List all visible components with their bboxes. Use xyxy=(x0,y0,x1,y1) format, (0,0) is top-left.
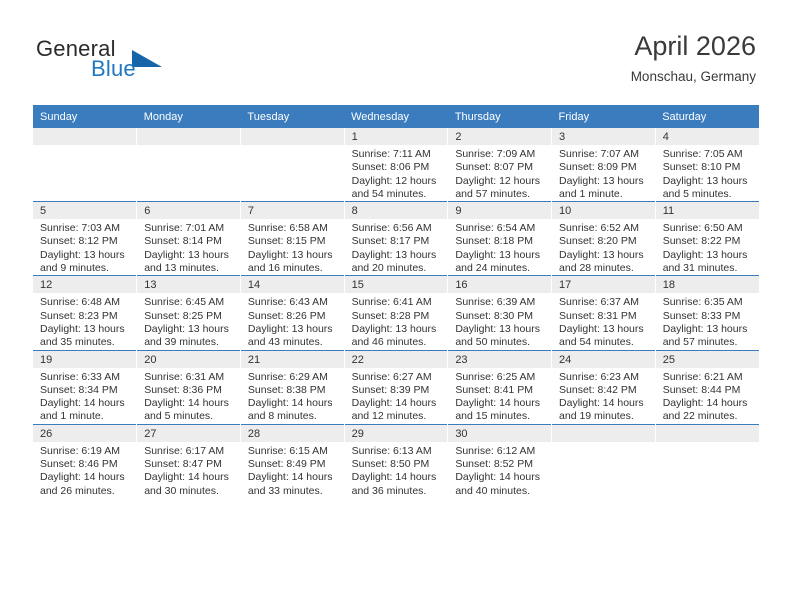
daylight-duration-line1: Daylight: 14 hours xyxy=(40,397,131,410)
day-details: Sunrise: 7:11 AMSunset: 8:06 PMDaylight:… xyxy=(345,145,448,201)
sunset-time: Sunset: 8:25 PM xyxy=(144,310,235,323)
sunrise-time: Sunrise: 6:15 AM xyxy=(248,445,339,458)
sunrise-time: Sunrise: 7:09 AM xyxy=(455,148,546,161)
day-details: Sunrise: 7:09 AMSunset: 8:07 PMDaylight:… xyxy=(448,145,551,201)
weekday-header-tuesday: Tuesday xyxy=(240,105,344,128)
page-header: General Blue April 2026 Monschau, German… xyxy=(0,0,792,100)
calendar-day-cell[interactable]: 9Sunrise: 6:54 AMSunset: 8:18 PMDaylight… xyxy=(448,202,552,276)
calendar-day-cell[interactable]: 26Sunrise: 6:19 AMSunset: 8:46 PMDayligh… xyxy=(33,424,137,498)
day-details: Sunrise: 6:43 AMSunset: 8:26 PMDaylight:… xyxy=(241,293,344,349)
daylight-duration-line2: and 9 minutes. xyxy=(40,262,131,275)
calendar-day-cell[interactable]: 7Sunrise: 6:58 AMSunset: 8:15 PMDaylight… xyxy=(240,202,344,276)
daylight-duration-line2: and 24 minutes. xyxy=(455,262,546,275)
day-number: 13 xyxy=(137,276,240,293)
daylight-duration-line2: and 54 minutes. xyxy=(559,336,650,349)
day-details: Sunrise: 6:58 AMSunset: 8:15 PMDaylight:… xyxy=(241,219,344,275)
day-details: Sunrise: 6:45 AMSunset: 8:25 PMDaylight:… xyxy=(137,293,240,349)
calendar-week-row: 1Sunrise: 7:11 AMSunset: 8:06 PMDaylight… xyxy=(33,128,759,202)
calendar-day-cell[interactable]: 21Sunrise: 6:29 AMSunset: 8:38 PMDayligh… xyxy=(240,350,344,424)
sunset-time: Sunset: 8:09 PM xyxy=(559,161,650,174)
sunrise-time: Sunrise: 6:56 AM xyxy=(352,222,443,235)
sunset-time: Sunset: 8:26 PM xyxy=(248,310,339,323)
calendar-day-cell[interactable]: 23Sunrise: 6:25 AMSunset: 8:41 PMDayligh… xyxy=(448,350,552,424)
sunset-time: Sunset: 8:44 PM xyxy=(663,384,754,397)
day-details: Sunrise: 6:19 AMSunset: 8:46 PMDaylight:… xyxy=(33,442,136,498)
daylight-duration-line1: Daylight: 14 hours xyxy=(352,471,443,484)
sunrise-time: Sunrise: 7:05 AM xyxy=(663,148,754,161)
day-details: Sunrise: 6:15 AMSunset: 8:49 PMDaylight:… xyxy=(241,442,344,498)
daylight-duration-line2: and 8 minutes. xyxy=(248,410,339,423)
sunrise-time: Sunrise: 6:33 AM xyxy=(40,371,131,384)
daylight-duration-line1: Daylight: 13 hours xyxy=(559,249,650,262)
day-number: 21 xyxy=(241,351,344,368)
daylight-duration-line2: and 33 minutes. xyxy=(248,485,339,498)
daylight-duration-line1: Daylight: 14 hours xyxy=(455,471,546,484)
day-number: 14 xyxy=(241,276,344,293)
sunset-time: Sunset: 8:38 PM xyxy=(248,384,339,397)
calendar-day-cell-empty xyxy=(552,424,656,498)
title-block: April 2026 Monschau, Germany xyxy=(631,30,756,86)
daylight-duration-line1: Daylight: 14 hours xyxy=(248,471,339,484)
sunset-time: Sunset: 8:42 PM xyxy=(559,384,650,397)
daylight-duration-line2: and 36 minutes. xyxy=(352,485,443,498)
sunset-time: Sunset: 8:52 PM xyxy=(455,458,546,471)
calendar-day-cell[interactable]: 3Sunrise: 7:07 AMSunset: 8:09 PMDaylight… xyxy=(552,128,656,202)
calendar-day-cell-empty xyxy=(33,128,137,202)
day-number xyxy=(137,128,240,145)
sunrise-time: Sunrise: 6:39 AM xyxy=(455,296,546,309)
daylight-duration-line2: and 54 minutes. xyxy=(352,188,443,201)
day-number: 20 xyxy=(137,351,240,368)
calendar-day-cell[interactable]: 29Sunrise: 6:13 AMSunset: 8:50 PMDayligh… xyxy=(344,424,448,498)
daylight-duration-line2: and 5 minutes. xyxy=(144,410,235,423)
sunrise-time: Sunrise: 6:37 AM xyxy=(559,296,650,309)
day-details: Sunrise: 6:52 AMSunset: 8:20 PMDaylight:… xyxy=(552,219,655,275)
day-number xyxy=(33,128,136,145)
daylight-duration-line1: Daylight: 13 hours xyxy=(559,175,650,188)
day-details: Sunrise: 6:23 AMSunset: 8:42 PMDaylight:… xyxy=(552,368,655,424)
sunrise-time: Sunrise: 6:19 AM xyxy=(40,445,131,458)
day-details: Sunrise: 7:07 AMSunset: 8:09 PMDaylight:… xyxy=(552,145,655,201)
day-number: 6 xyxy=(137,202,240,219)
logo-text-blue: Blue xyxy=(91,56,136,82)
weekday-header-monday: Monday xyxy=(137,105,241,128)
day-number: 9 xyxy=(448,202,551,219)
day-number xyxy=(552,425,655,442)
day-details: Sunrise: 6:39 AMSunset: 8:30 PMDaylight:… xyxy=(448,293,551,349)
daylight-duration-line2: and 46 minutes. xyxy=(352,336,443,349)
sunrise-time: Sunrise: 6:12 AM xyxy=(455,445,546,458)
daylight-duration-line2: and 30 minutes. xyxy=(144,485,235,498)
calendar-day-cell-empty xyxy=(137,128,241,202)
day-details: Sunrise: 6:48 AMSunset: 8:23 PMDaylight:… xyxy=(33,293,136,349)
daylight-duration-line1: Daylight: 12 hours xyxy=(455,175,546,188)
calendar-table: Sunday Monday Tuesday Wednesday Thursday… xyxy=(33,105,759,498)
sunset-time: Sunset: 8:46 PM xyxy=(40,458,131,471)
day-number: 19 xyxy=(33,351,136,368)
daylight-duration-line2: and 35 minutes. xyxy=(40,336,131,349)
day-number: 2 xyxy=(448,128,551,145)
daylight-duration-line1: Daylight: 14 hours xyxy=(352,397,443,410)
daylight-duration-line1: Daylight: 14 hours xyxy=(559,397,650,410)
day-details: Sunrise: 6:21 AMSunset: 8:44 PMDaylight:… xyxy=(656,368,759,424)
sunset-time: Sunset: 8:50 PM xyxy=(352,458,443,471)
sunrise-time: Sunrise: 6:29 AM xyxy=(248,371,339,384)
day-details: Sunrise: 6:33 AMSunset: 8:34 PMDaylight:… xyxy=(33,368,136,424)
calendar-day-cell[interactable]: 1Sunrise: 7:11 AMSunset: 8:06 PMDaylight… xyxy=(344,128,448,202)
sunrise-time: Sunrise: 6:58 AM xyxy=(248,222,339,235)
daylight-duration-line1: Daylight: 13 hours xyxy=(559,323,650,336)
sunset-time: Sunset: 8:49 PM xyxy=(248,458,339,471)
daylight-duration-line1: Daylight: 13 hours xyxy=(352,249,443,262)
day-details: Sunrise: 6:13 AMSunset: 8:50 PMDaylight:… xyxy=(345,442,448,498)
daylight-duration-line2: and 39 minutes. xyxy=(144,336,235,349)
day-details: Sunrise: 7:05 AMSunset: 8:10 PMDaylight:… xyxy=(656,145,759,201)
calendar-day-cell[interactable]: 6Sunrise: 7:01 AMSunset: 8:14 PMDaylight… xyxy=(137,202,241,276)
calendar-day-cell-empty xyxy=(240,128,344,202)
sunset-time: Sunset: 8:34 PM xyxy=(40,384,131,397)
daylight-duration-line2: and 40 minutes. xyxy=(455,485,546,498)
day-number: 4 xyxy=(656,128,759,145)
sunset-time: Sunset: 8:30 PM xyxy=(455,310,546,323)
day-number: 22 xyxy=(345,351,448,368)
weekday-header-saturday: Saturday xyxy=(655,105,759,128)
day-number: 3 xyxy=(552,128,655,145)
sunset-time: Sunset: 8:15 PM xyxy=(248,235,339,248)
sunrise-time: Sunrise: 6:31 AM xyxy=(144,371,235,384)
daylight-duration-line1: Daylight: 14 hours xyxy=(144,471,235,484)
calendar-week-row: 19Sunrise: 6:33 AMSunset: 8:34 PMDayligh… xyxy=(33,350,759,424)
daylight-duration-line1: Daylight: 14 hours xyxy=(663,397,754,410)
daylight-duration-line2: and 57 minutes. xyxy=(455,188,546,201)
daylight-duration-line2: and 19 minutes. xyxy=(559,410,650,423)
day-number: 27 xyxy=(137,425,240,442)
weekday-header-friday: Friday xyxy=(552,105,656,128)
day-details: Sunrise: 6:17 AMSunset: 8:47 PMDaylight:… xyxy=(137,442,240,498)
daylight-duration-line2: and 28 minutes. xyxy=(559,262,650,275)
sunrise-time: Sunrise: 6:21 AM xyxy=(663,371,754,384)
daylight-duration-line1: Daylight: 14 hours xyxy=(40,471,131,484)
daylight-duration-line2: and 12 minutes. xyxy=(352,410,443,423)
daylight-duration-line1: Daylight: 13 hours xyxy=(352,323,443,336)
day-details: Sunrise: 6:25 AMSunset: 8:41 PMDaylight:… xyxy=(448,368,551,424)
sunset-time: Sunset: 8:23 PM xyxy=(40,310,131,323)
sunset-time: Sunset: 8:39 PM xyxy=(352,384,443,397)
daylight-duration-line1: Daylight: 13 hours xyxy=(144,323,235,336)
sunrise-time: Sunrise: 6:17 AM xyxy=(144,445,235,458)
sunrise-time: Sunrise: 7:01 AM xyxy=(144,222,235,235)
day-number: 26 xyxy=(33,425,136,442)
daylight-duration-line1: Daylight: 14 hours xyxy=(455,397,546,410)
page-subtitle: Monschau, Germany xyxy=(631,68,756,86)
daylight-duration-line1: Daylight: 13 hours xyxy=(40,323,131,336)
calendar-week-row: 5Sunrise: 7:03 AMSunset: 8:12 PMDaylight… xyxy=(33,202,759,276)
day-number: 12 xyxy=(33,276,136,293)
day-number: 8 xyxy=(345,202,448,219)
calendar-day-cell[interactable]: 20Sunrise: 6:31 AMSunset: 8:36 PMDayligh… xyxy=(137,350,241,424)
calendar-day-cell[interactable]: 24Sunrise: 6:23 AMSunset: 8:42 PMDayligh… xyxy=(552,350,656,424)
daylight-duration-line2: and 13 minutes. xyxy=(144,262,235,275)
sunrise-time: Sunrise: 6:25 AM xyxy=(455,371,546,384)
day-number xyxy=(656,425,759,442)
day-details: Sunrise: 6:54 AMSunset: 8:18 PMDaylight:… xyxy=(448,219,551,275)
day-details: Sunrise: 6:31 AMSunset: 8:36 PMDaylight:… xyxy=(137,368,240,424)
page-title: April 2026 xyxy=(631,30,756,62)
calendar-page: General Blue April 2026 Monschau, German… xyxy=(0,0,792,612)
calendar-day-cell[interactable]: 2Sunrise: 7:09 AMSunset: 8:07 PMDaylight… xyxy=(448,128,552,202)
sunrise-time: Sunrise: 6:50 AM xyxy=(663,222,754,235)
sunrise-time: Sunrise: 6:13 AM xyxy=(352,445,443,458)
calendar-day-cell[interactable]: 28Sunrise: 6:15 AMSunset: 8:49 PMDayligh… xyxy=(240,424,344,498)
calendar-day-cell[interactable]: 19Sunrise: 6:33 AMSunset: 8:34 PMDayligh… xyxy=(33,350,137,424)
calendar-day-cell[interactable]: 17Sunrise: 6:37 AMSunset: 8:31 PMDayligh… xyxy=(552,276,656,350)
sunrise-time: Sunrise: 6:27 AM xyxy=(352,371,443,384)
daylight-duration-line2: and 16 minutes. xyxy=(248,262,339,275)
calendar-day-cell[interactable]: 15Sunrise: 6:41 AMSunset: 8:28 PMDayligh… xyxy=(344,276,448,350)
daylight-duration-line2: and 26 minutes. xyxy=(40,485,131,498)
calendar-day-cell[interactable]: 22Sunrise: 6:27 AMSunset: 8:39 PMDayligh… xyxy=(344,350,448,424)
sunrise-time: Sunrise: 6:41 AM xyxy=(352,296,443,309)
day-details: Sunrise: 7:03 AMSunset: 8:12 PMDaylight:… xyxy=(33,219,136,275)
sunrise-time: Sunrise: 6:35 AM xyxy=(663,296,754,309)
sunrise-time: Sunrise: 6:52 AM xyxy=(559,222,650,235)
sunset-time: Sunset: 8:33 PM xyxy=(663,310,754,323)
day-number: 11 xyxy=(656,202,759,219)
sunset-time: Sunset: 8:10 PM xyxy=(663,161,754,174)
calendar-day-cell[interactable]: 11Sunrise: 6:50 AMSunset: 8:22 PMDayligh… xyxy=(655,202,759,276)
day-number: 16 xyxy=(448,276,551,293)
sunset-time: Sunset: 8:17 PM xyxy=(352,235,443,248)
calendar-day-cell[interactable]: 12Sunrise: 6:48 AMSunset: 8:23 PMDayligh… xyxy=(33,276,137,350)
daylight-duration-line1: Daylight: 13 hours xyxy=(663,175,754,188)
day-number: 15 xyxy=(345,276,448,293)
daylight-duration-line1: Daylight: 13 hours xyxy=(40,249,131,262)
sunrise-time: Sunrise: 6:45 AM xyxy=(144,296,235,309)
sunset-time: Sunset: 8:07 PM xyxy=(455,161,546,174)
sunrise-time: Sunrise: 6:23 AM xyxy=(559,371,650,384)
daylight-duration-line1: Daylight: 13 hours xyxy=(144,249,235,262)
day-number: 24 xyxy=(552,351,655,368)
daylight-duration-line1: Daylight: 13 hours xyxy=(663,249,754,262)
sunset-time: Sunset: 8:18 PM xyxy=(455,235,546,248)
daylight-duration-line2: and 1 minute. xyxy=(40,410,131,423)
daylight-duration-line1: Daylight: 13 hours xyxy=(248,249,339,262)
day-number: 5 xyxy=(33,202,136,219)
day-number: 17 xyxy=(552,276,655,293)
day-details: Sunrise: 6:50 AMSunset: 8:22 PMDaylight:… xyxy=(656,219,759,275)
logo-triangle-icon xyxy=(132,50,162,67)
day-number: 23 xyxy=(448,351,551,368)
day-details: Sunrise: 6:27 AMSunset: 8:39 PMDaylight:… xyxy=(345,368,448,424)
day-number: 7 xyxy=(241,202,344,219)
day-number: 18 xyxy=(656,276,759,293)
sunset-time: Sunset: 8:20 PM xyxy=(559,235,650,248)
daylight-duration-line2: and 22 minutes. xyxy=(663,410,754,423)
day-details: Sunrise: 6:12 AMSunset: 8:52 PMDaylight:… xyxy=(448,442,551,498)
day-number: 25 xyxy=(656,351,759,368)
daylight-duration-line1: Daylight: 13 hours xyxy=(455,323,546,336)
calendar-body: 1Sunrise: 7:11 AMSunset: 8:06 PMDaylight… xyxy=(33,128,759,498)
calendar-day-cell[interactable]: 13Sunrise: 6:45 AMSunset: 8:25 PMDayligh… xyxy=(137,276,241,350)
sunrise-time: Sunrise: 6:54 AM xyxy=(455,222,546,235)
day-details: Sunrise: 6:56 AMSunset: 8:17 PMDaylight:… xyxy=(345,219,448,275)
weekday-header-wednesday: Wednesday xyxy=(344,105,448,128)
calendar-day-cell[interactable]: 14Sunrise: 6:43 AMSunset: 8:26 PMDayligh… xyxy=(240,276,344,350)
day-details: Sunrise: 6:29 AMSunset: 8:38 PMDaylight:… xyxy=(241,368,344,424)
daylight-duration-line2: and 57 minutes. xyxy=(663,336,754,349)
daylight-duration-line2: and 5 minutes. xyxy=(663,188,754,201)
sunset-time: Sunset: 8:28 PM xyxy=(352,310,443,323)
daylight-duration-line1: Daylight: 13 hours xyxy=(663,323,754,336)
calendar-day-cell[interactable]: 18Sunrise: 6:35 AMSunset: 8:33 PMDayligh… xyxy=(655,276,759,350)
daylight-duration-line2: and 15 minutes. xyxy=(455,410,546,423)
day-number: 1 xyxy=(345,128,448,145)
calendar-day-cell[interactable]: 8Sunrise: 6:56 AMSunset: 8:17 PMDaylight… xyxy=(344,202,448,276)
sunrise-time: Sunrise: 6:48 AM xyxy=(40,296,131,309)
calendar-day-cell[interactable]: 5Sunrise: 7:03 AMSunset: 8:12 PMDaylight… xyxy=(33,202,137,276)
sunset-time: Sunset: 8:12 PM xyxy=(40,235,131,248)
sunrise-time: Sunrise: 7:07 AM xyxy=(559,148,650,161)
daylight-duration-line2: and 1 minute. xyxy=(559,188,650,201)
day-details: Sunrise: 6:41 AMSunset: 8:28 PMDaylight:… xyxy=(345,293,448,349)
calendar-week-row: 26Sunrise: 6:19 AMSunset: 8:46 PMDayligh… xyxy=(33,424,759,498)
sunset-time: Sunset: 8:06 PM xyxy=(352,161,443,174)
calendar-header-row: Sunday Monday Tuesday Wednesday Thursday… xyxy=(33,105,759,128)
daylight-duration-line2: and 31 minutes. xyxy=(663,262,754,275)
sunset-time: Sunset: 8:47 PM xyxy=(144,458,235,471)
day-number: 10 xyxy=(552,202,655,219)
day-details: Sunrise: 6:35 AMSunset: 8:33 PMDaylight:… xyxy=(656,293,759,349)
sunset-time: Sunset: 8:22 PM xyxy=(663,235,754,248)
daylight-duration-line1: Daylight: 14 hours xyxy=(248,397,339,410)
calendar-day-cell-empty xyxy=(655,424,759,498)
weekday-header-thursday: Thursday xyxy=(448,105,552,128)
sunset-time: Sunset: 8:36 PM xyxy=(144,384,235,397)
sunset-time: Sunset: 8:41 PM xyxy=(455,384,546,397)
day-details: Sunrise: 7:01 AMSunset: 8:14 PMDaylight:… xyxy=(137,219,240,275)
sunset-time: Sunset: 8:14 PM xyxy=(144,235,235,248)
daylight-duration-line1: Daylight: 14 hours xyxy=(144,397,235,410)
calendar-day-cell[interactable]: 30Sunrise: 6:12 AMSunset: 8:52 PMDayligh… xyxy=(448,424,552,498)
day-number: 29 xyxy=(345,425,448,442)
sunrise-time: Sunrise: 7:03 AM xyxy=(40,222,131,235)
daylight-duration-line2: and 20 minutes. xyxy=(352,262,443,275)
weekday-header-sunday: Sunday xyxy=(33,105,137,128)
calendar-day-cell[interactable]: 27Sunrise: 6:17 AMSunset: 8:47 PMDayligh… xyxy=(137,424,241,498)
calendar-day-cell[interactable]: 16Sunrise: 6:39 AMSunset: 8:30 PMDayligh… xyxy=(448,276,552,350)
daylight-duration-line1: Daylight: 12 hours xyxy=(352,175,443,188)
daylight-duration-line2: and 50 minutes. xyxy=(455,336,546,349)
day-details: Sunrise: 6:37 AMSunset: 8:31 PMDaylight:… xyxy=(552,293,655,349)
calendar-day-cell[interactable]: 25Sunrise: 6:21 AMSunset: 8:44 PMDayligh… xyxy=(655,350,759,424)
calendar-week-row: 12Sunrise: 6:48 AMSunset: 8:23 PMDayligh… xyxy=(33,276,759,350)
day-number: 28 xyxy=(241,425,344,442)
daylight-duration-line1: Daylight: 13 hours xyxy=(248,323,339,336)
calendar-day-cell[interactable]: 10Sunrise: 6:52 AMSunset: 8:20 PMDayligh… xyxy=(552,202,656,276)
calendar-day-cell[interactable]: 4Sunrise: 7:05 AMSunset: 8:10 PMDaylight… xyxy=(655,128,759,202)
general-blue-logo[interactable]: General Blue xyxy=(36,36,176,88)
day-number xyxy=(241,128,344,145)
daylight-duration-line1: Daylight: 13 hours xyxy=(455,249,546,262)
sunrise-time: Sunrise: 7:11 AM xyxy=(352,148,443,161)
sunrise-time: Sunrise: 6:43 AM xyxy=(248,296,339,309)
sunset-time: Sunset: 8:31 PM xyxy=(559,310,650,323)
day-number: 30 xyxy=(448,425,551,442)
daylight-duration-line2: and 43 minutes. xyxy=(248,336,339,349)
